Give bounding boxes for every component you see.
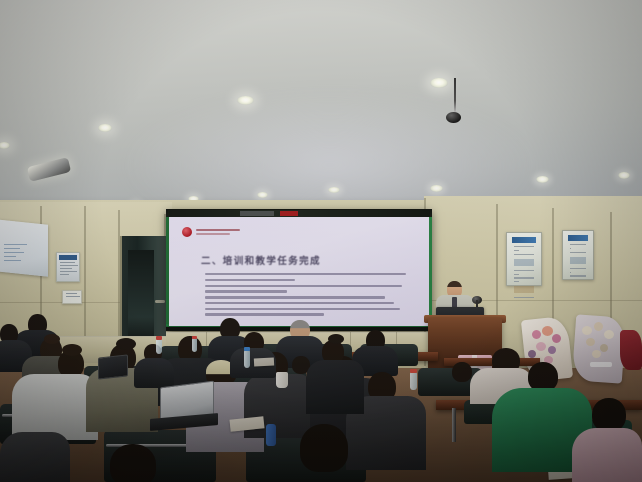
door-handle[interactable]	[155, 300, 165, 303]
water-bottle[interactable]	[244, 350, 250, 368]
bottle-cap	[156, 336, 162, 340]
desk-paper[interactable]	[254, 357, 274, 366]
ceiling-downlight	[536, 176, 549, 183]
ceiling-downlight	[618, 172, 630, 179]
logo-wordmark	[196, 229, 240, 235]
red-wrapped-item	[620, 330, 642, 370]
blue-bottle[interactable]	[266, 424, 276, 446]
closed-laptop[interactable]	[98, 354, 128, 379]
screen-top-bezel	[168, 210, 430, 217]
framed-notice-right	[562, 230, 594, 280]
desk-leg	[452, 408, 456, 442]
wall-poster-small	[56, 252, 80, 282]
water-bottle[interactable]	[410, 372, 417, 390]
slide-surface: 二、培训和教学任务完成	[169, 217, 429, 326]
meeting-room-photo: 二、培训和教学任务完成 1、完成年度培训计划安排的各项专题培训任务，按期完成教学…	[0, 0, 642, 482]
hanging-microphone-icon	[446, 112, 461, 123]
wall-poster-notice	[62, 290, 82, 304]
ceiling-downlight	[98, 124, 112, 132]
bottle-cap	[244, 347, 250, 351]
doorway-opening	[128, 250, 154, 346]
slide-organization-logo	[182, 227, 240, 237]
ceiling-downlight	[257, 192, 268, 198]
slide-body	[205, 273, 410, 319]
bottle-cap	[410, 369, 417, 373]
wall-panel-seam	[84, 206, 86, 356]
water-bottle[interactable]	[192, 338, 197, 352]
whiteboard-text-lines	[4, 244, 30, 266]
logo-mark-icon	[182, 227, 192, 237]
water-bottle[interactable]	[156, 338, 162, 354]
hanging-microphone-cable	[454, 78, 456, 116]
paper-cup[interactable]	[276, 372, 288, 388]
wall-panel-seam	[552, 208, 554, 336]
bottle-cap	[192, 336, 197, 339]
ceiling-downlight	[430, 78, 448, 88]
ceiling-downlight	[430, 185, 443, 192]
screen-edge-right	[429, 217, 432, 326]
ceiling-downlight	[328, 187, 340, 193]
slide-title: 二、培训和教学任务完成	[201, 253, 321, 267]
ceiling-downlight	[237, 96, 254, 105]
framed-notice-left	[506, 232, 542, 286]
